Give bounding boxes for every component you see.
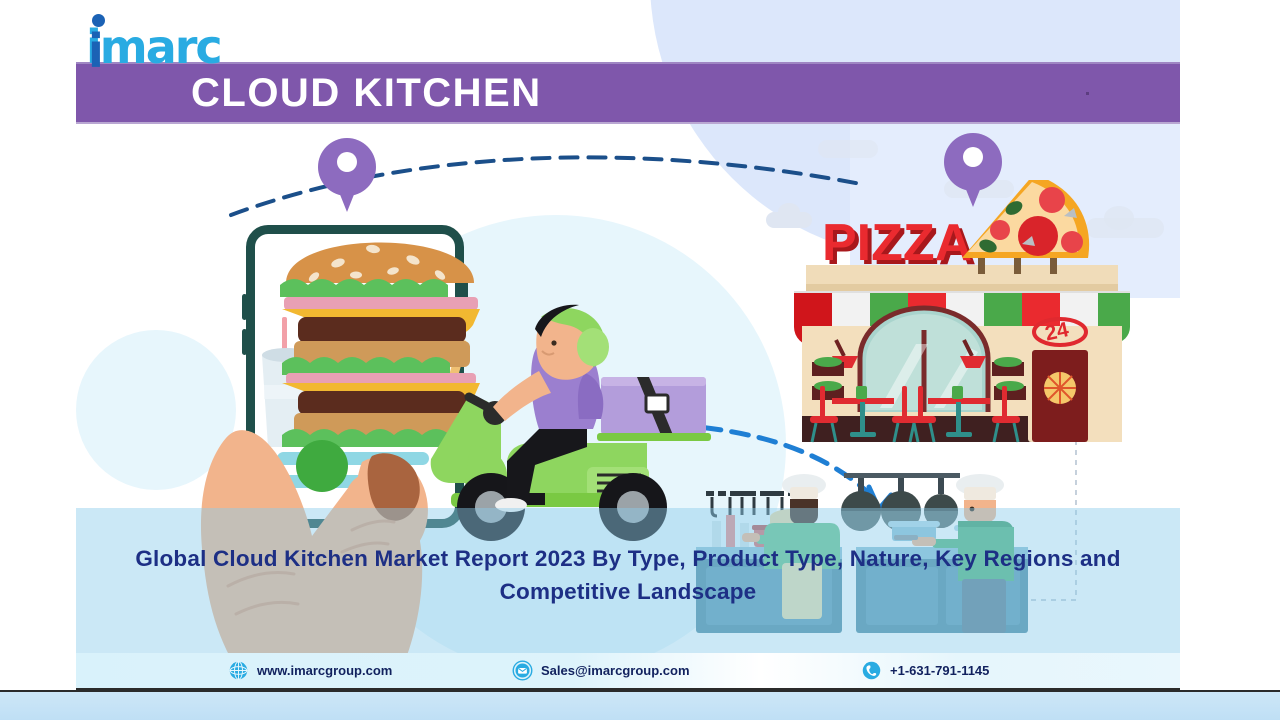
logo-wordmark: imarc — [86, 20, 221, 74]
footer-website-label: www.imarcgroup.com — [257, 663, 392, 678]
imarc-logo[interactable]: imarc i — [76, 6, 296, 66]
page-title-line1: Global Cloud Kitchen Market Report 2023 … — [135, 546, 977, 571]
map-pin-icon — [944, 133, 1002, 191]
phone-icon — [861, 660, 882, 681]
infographic-page: PIZZA PIZZA — [0, 0, 1280, 720]
footer-email[interactable]: Sales@imarcgroup.com — [512, 660, 690, 681]
footer-phone-label: +1-631-791-1145 — [890, 663, 989, 678]
banner-speck — [1086, 92, 1089, 95]
banner-title: CLOUD KITCHEN — [191, 71, 542, 116]
envelope-icon — [512, 660, 533, 681]
footer-email-label: Sales@imarcgroup.com — [541, 663, 690, 678]
globe-icon — [228, 660, 249, 681]
infographic-canvas: PIZZA PIZZA — [76, 0, 1180, 690]
title-banner: CLOUD KITCHEN — [76, 62, 1180, 124]
contact-footer: www.imarcgroup.com Sales@imarcgroup.com … — [76, 653, 1180, 690]
page-bottom-strip — [0, 692, 1280, 720]
logo-initial: i — [88, 24, 104, 78]
page-title: Global Cloud Kitchen Market Report 2023 … — [116, 542, 1140, 608]
svg-text:PIZZA: PIZZA — [822, 214, 972, 272]
phone-volume-button — [242, 294, 247, 320]
footer-phone[interactable]: +1-631-791-1145 — [861, 660, 989, 681]
footer-website[interactable]: www.imarcgroup.com — [228, 660, 392, 681]
phone-volume-button — [242, 329, 247, 355]
pizza-shop-illustration: PIZZA PIZZA — [776, 180, 1136, 480]
map-pin-icon — [318, 138, 376, 196]
